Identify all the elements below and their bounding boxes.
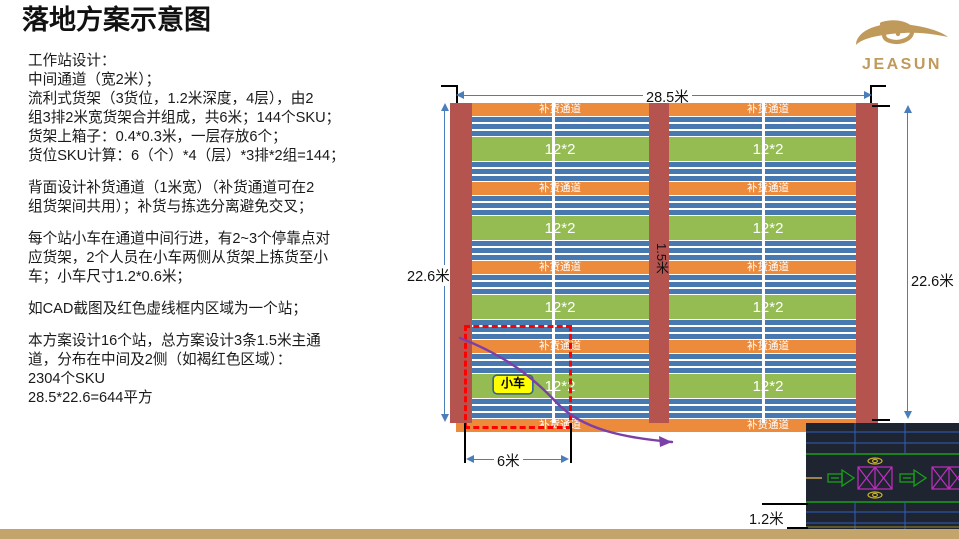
- text-block-cad-note: 如CAD截图及红色虚线框内区域为一个站；: [28, 300, 428, 319]
- text-line: 每个站小车在通道中间行进，有2~3个停靠点对: [28, 230, 428, 249]
- dimension-line-height-left: [444, 106, 445, 419]
- text-line: 流利式货架（3货位，1.2米深度，4层），由2: [28, 90, 428, 109]
- rack-capacity-label: 12*2: [664, 141, 872, 158]
- dimension-arrow-up-right: [904, 105, 912, 113]
- text-line: 背面设计补货通道（1米宽）（补货通道可在2: [28, 179, 428, 198]
- dimension-arrow-up-left: [441, 103, 449, 111]
- dimension-arrow-down-left: [441, 414, 449, 422]
- main-corridor-right: [856, 103, 878, 423]
- cad-screenshot-inset: [806, 423, 959, 533]
- jeasun-swoosh-icon: [852, 18, 952, 58]
- text-block-workstation-design: 工作站设计： 中间通道（宽2米）； 流利式货架（3货位，1.2米深度，4层），由…: [28, 52, 428, 166]
- aisle-label: 补货通道: [456, 262, 664, 273]
- aisle-label: 补货通道: [456, 183, 664, 194]
- text-line: 如CAD截图及红色虚线框内区域为一个站；: [28, 300, 428, 319]
- text-line: 组3排2米宽货架合并组成，共6米；144个SKU；: [28, 109, 428, 128]
- text-line: 28.5*22.6=644平方: [28, 389, 428, 408]
- rack-capacity-label: 12*2: [456, 141, 664, 158]
- text-block-replenish-aisle: 背面设计补货通道（1米宽）（补货通道可在2 组货架间共用）；补货与拣选分离避免交…: [28, 179, 428, 217]
- company-logo: JEASUN: [846, 18, 956, 78]
- extension-line-top-left-cap: [441, 85, 458, 87]
- aisle-label: 补货通道: [664, 104, 872, 115]
- aisle-label: 补货通道: [456, 104, 664, 115]
- extension-line-right-top: [872, 105, 890, 107]
- rack-capacity-label: 12*2: [664, 299, 872, 316]
- rack-capacity-label: 12*2: [456, 299, 664, 316]
- callout-arrow-icon: [456, 330, 756, 480]
- description-text-column: 工作站设计： 中间通道（宽2米）； 流利式货架（3货位，1.2米深度，4层），由…: [28, 52, 428, 408]
- text-line: 2304个SKU: [28, 370, 428, 389]
- dimension-arrow-left: [456, 91, 464, 99]
- corridor-width-label: 1.5米: [652, 243, 671, 274]
- extension-line-cad-top: [762, 503, 808, 505]
- extension-line-top-right-cap: [870, 85, 886, 87]
- dimension-arrow-right: [864, 91, 872, 99]
- dimension-arrow-down-right: [904, 411, 912, 419]
- text-line: 中间通道（宽2米）；: [28, 71, 428, 90]
- text-line: 货架上箱子：0.4*0.3米，一层存放6个；: [28, 128, 428, 147]
- slide-root: 落地方案示意图 工作站设计： 中间通道（宽2米）； 流利式货架（3货位，1.2米…: [0, 0, 959, 539]
- dimension-label-height-right: 22.6米: [908, 270, 957, 291]
- text-line: 工作站设计：: [28, 52, 428, 71]
- text-line: 货位SKU计算：6（个）*4（层）*3排*2组=144；: [28, 147, 428, 166]
- dimension-label-height-left: 22.6米: [404, 265, 453, 286]
- logo-wordmark: JEASUN: [854, 56, 950, 74]
- rack-capacity-label: 12*2: [456, 220, 664, 237]
- text-block-total-plan: 本方案设计16个站，总方案设计3条1.5米主通 道，分布在中间及2侧（如褐红色区…: [28, 332, 428, 408]
- rack-divider-gap: [762, 103, 765, 423]
- aisle-label: 补货通道: [664, 183, 872, 194]
- text-line: 本方案设计16个站，总方案设计3条1.5米主通: [28, 332, 428, 351]
- extension-line-right-bottom: [872, 419, 890, 421]
- text-line: 道，分布在中间及2侧（如褐红色区域）：: [28, 351, 428, 370]
- text-block-cart-operation: 每个站小车在通道中间行进，有2~3个停靠点对 应货架，2个人员在小车两侧从货架上…: [28, 230, 428, 287]
- dimension-label-cad: 1.2米: [746, 508, 787, 529]
- rack-capacity-label: 12*2: [664, 220, 872, 237]
- text-line: 车；小车尺寸1.2*0.6米；: [28, 268, 428, 287]
- page-title: 落地方案示意图: [22, 6, 211, 36]
- dimension-line-height-right: [907, 108, 908, 416]
- footer-bar: [0, 529, 959, 539]
- aisle-label: 补货通道: [664, 262, 872, 273]
- text-line: 应货架，2个人员在小车两侧从货架上拣货至小: [28, 249, 428, 268]
- text-line: 组货架间共用）；补货与拣选分离避免交叉；: [28, 198, 428, 217]
